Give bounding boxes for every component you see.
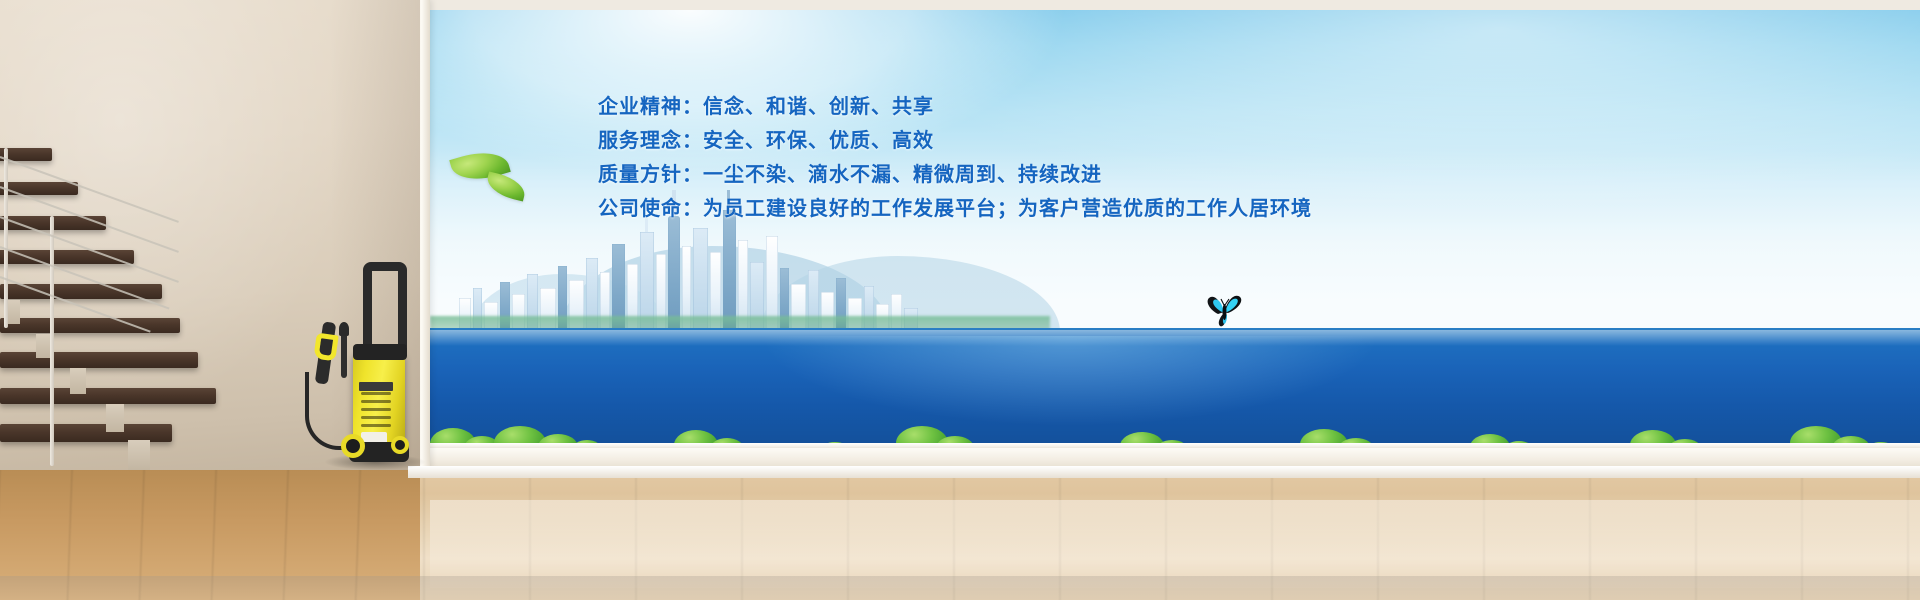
baseboard <box>408 466 1920 478</box>
slogan-line-corporate-spirit: 企业精神：信念、和谐、创新、共享 <box>598 90 1498 124</box>
slogan-text-block: 企业精神：信念、和谐、创新、共享 服务理念：安全、环保、优质、高效 质量方针：一… <box>598 90 1498 226</box>
washer-top-cap <box>353 344 407 360</box>
washer-wheel <box>391 436 409 454</box>
floor-shadow-band <box>0 576 1920 600</box>
washer-wheel <box>341 434 365 458</box>
washer-nozzle <box>339 322 349 336</box>
banner-stage: 企业精神：信念、和谐、创新、共享 服务理念：安全、环保、优质、高效 质量方针：一… <box>0 0 1920 600</box>
washer-brand-label <box>359 382 393 391</box>
slogan-line-company-mission: 公司使命：为员工建设良好的工作发展平台；为客户营造优质的工作人居环境 <box>598 192 1498 226</box>
floor-reflection <box>430 500 1920 588</box>
sea-reflection <box>760 336 1380 426</box>
washer-trigger <box>313 333 338 362</box>
slogan-line-service-philosophy: 服务理念：安全、环保、优质、高效 <box>598 124 1498 158</box>
pressure-washer <box>305 256 430 468</box>
washer-lance <box>341 330 347 378</box>
window-frame-top <box>408 0 1920 10</box>
washer-handle <box>363 262 407 354</box>
slogan-line-quality-policy: 质量方针：一尘不染、滴水不漏、精微周到、持续改进 <box>598 158 1498 192</box>
butterfly-icon <box>1200 286 1248 334</box>
